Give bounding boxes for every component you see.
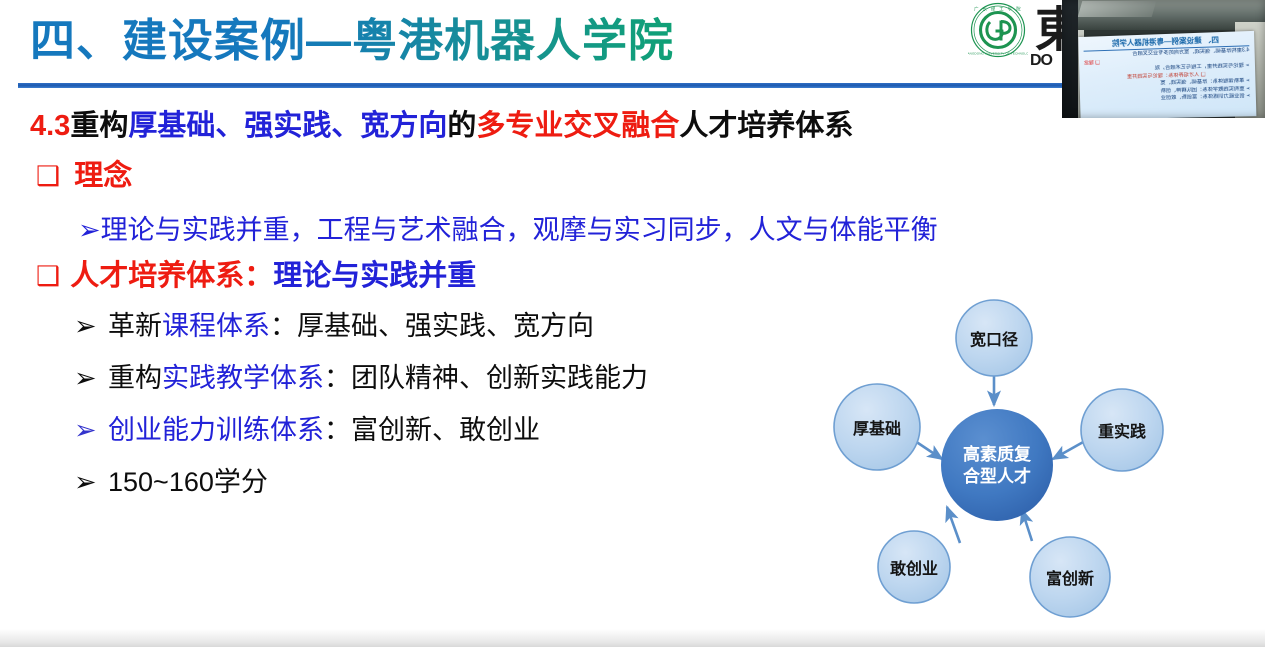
idea-heading-label: 理念 [74,160,132,192]
arrow-bullet-icon: ➢ [74,306,108,346]
university-logo: 广 东 理 工 学 院 GUANGDONG UNIVERSITY OF TECH… [968,2,1028,59]
list-item-emphasis: 课程体系 [162,311,270,341]
list-item: ➢革新课程体系：厚基础、强实践、宽方向 [74,306,594,346]
node-label: 宽口径 [970,330,1018,349]
section-heading-part-2: 厚基础、强实践、宽方向 [128,110,447,142]
arrow-bullet-icon: ➢ [74,410,108,450]
idea-heading: ❑理念 [36,156,132,196]
diagram-svg: 高素质复 合型人才 宽口径 重实践 富创新 敢创业 厚基础 [800,295,1200,620]
system-heading-emphasis: 理论与实践并重 [273,260,476,292]
logo-english-name: GUANGDONG UNIVERSITY OF TECHNOLOGY [968,52,1028,56]
diagram-node-bottom-left[interactable]: 敢创业 [878,531,950,603]
diagram-node-left[interactable]: 厚基础 [834,384,920,470]
idea-sub-bullet-text: 理论与实践并重，工程与艺术融合，观摩与实习同步，人文与体能平衡 [101,215,938,245]
diagram-center-node: 高素质复 合型人才 [941,409,1053,521]
node-label: 富创新 [1046,569,1094,588]
center-label-line-2: 合型人才 [963,466,1031,486]
list-item-tail: ：富创新、敢创业 [324,415,540,445]
center-label-line-1: 高素质复 [963,444,1032,464]
arrow-bottom-right [1022,510,1032,541]
occluded-prefix-text: DO [1030,52,1052,70]
list-item-tail: ：厚基础、强实践、宽方向 [270,311,594,341]
square-bullet-icon: ❑ [36,261,60,291]
section-heading-part-4: 多专业交叉融合 [476,110,679,142]
arrow-bullet-icon: ➢ [74,462,108,502]
video-vignette [1062,0,1265,118]
node-label: 厚基础 [853,419,901,438]
list-item-lead: 150~160学分 [108,467,268,497]
diagram-node-right[interactable]: 重实践 [1081,389,1163,471]
node-label: 敢创业 [890,559,938,578]
diagram-node-bottom-right[interactable]: 富创新 [1030,537,1110,617]
arrow-bullet-icon: ➢ [74,358,108,398]
idea-sub-bullet: ➢理论与实践并重，工程与艺术融合，观摩与实习同步，人文与体能平衡 [78,210,938,250]
center-circle [941,409,1053,521]
page-title: 四、建设案例—粤港机器人学院 [30,8,990,74]
logo-chinese-name: 广 东 理 工 学 院 [974,6,1022,13]
section-heading-part-5: 人才培养体系 [679,110,853,142]
slide-canvas: 四、建设案例—粤港机器人学院 4.3重构厚基础、强实践、宽方向的多专业交叉融合人… [0,0,1265,647]
diagram-node-top[interactable]: 宽口径 [956,300,1032,376]
logo-svg: 广 东 理 工 学 院 GUANGDONG UNIVERSITY OF TECH… [968,2,1028,59]
list-item-tail: ：团队精神、创新实践能力 [324,363,648,393]
section-heading-4-3: 4.3重构厚基础、强实践、宽方向的多专业交叉融合人才培养体系 [30,106,853,146]
list-item-emphasis: 实践教学体系 [162,363,324,393]
node-label: 重实践 [1098,422,1146,441]
system-heading-label: 人才培养体系： [70,260,273,292]
section-heading-part-1: 重构 [70,110,128,142]
arrow-right [1053,441,1085,459]
slide-title-container: 四、建设案例—粤港机器人学院 [30,8,990,78]
list-item: ➢150~160学分 [74,462,268,502]
list-item-lead: 重构 [108,363,162,393]
list-item: ➢创业能力训练体系：富创新、敢创业 [74,410,540,450]
arrow-bottom-left [947,507,960,543]
system-heading: ❑人才培养体系：理论与实践并重 [36,256,476,296]
list-item-lead: 革新 [108,311,162,341]
arrow-bullet-icon: ➢ [78,215,101,245]
talent-model-diagram: 高素质复 合型人才 宽口径 重实践 富创新 敢创业 厚基础 [800,295,1200,620]
video-overlay-panel[interactable]: 四、 建设案例—粤港机器人学院 4.3重构厚基础、强实践、宽方向的多专业交叉融合… [1062,0,1265,118]
slide-bottom-edge [0,629,1265,647]
section-number: 4.3 [30,110,70,142]
list-item: ➢重构实践教学体系：团队精神、创新实践能力 [74,358,648,398]
list-item-emphasis: 创业能力训练体系 [108,415,324,445]
section-heading-part-3: 的 [447,110,476,142]
square-bullet-icon: ❑ [36,161,60,191]
